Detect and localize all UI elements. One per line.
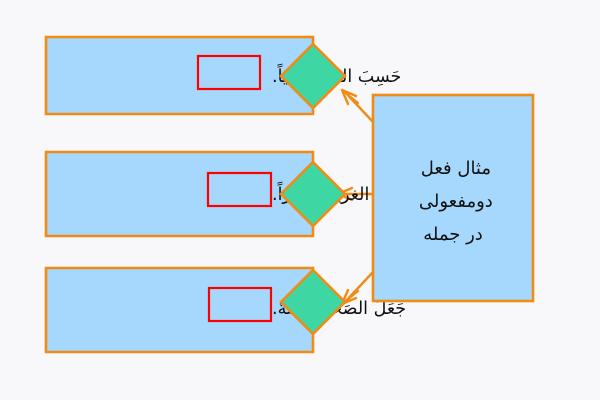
hub-label-line-2: دومفعولی [419,191,493,212]
diagram-root: حَسِبَ المديرَ غَنياً. ظَنَنتُ الغريبَ خ… [0,0,600,400]
connector-hub-to-example-1 [342,90,373,122]
example-node-2[interactable]: ظَنَنتُ الغريبَ خبيراً. [46,152,417,236]
diagram-canvas: حَسِبَ المديرَ غَنياً. ظَنَنتُ الغريبَ خ… [0,0,600,400]
hub-label-line-3: در جمله [423,224,483,245]
hub-node[interactable]: مثال فعل دومفعولی در جمله [373,95,533,301]
hub-label-line-1: مثال فعل [421,158,491,179]
example-1-verb-highlight: حَسِبَ [358,67,402,87]
hub-label: مثال فعل دومفعولی در جمله [413,158,493,245]
example-node-3[interactable]: جَعَلَ الصَحراءَ جَنَّةً. [46,268,406,352]
